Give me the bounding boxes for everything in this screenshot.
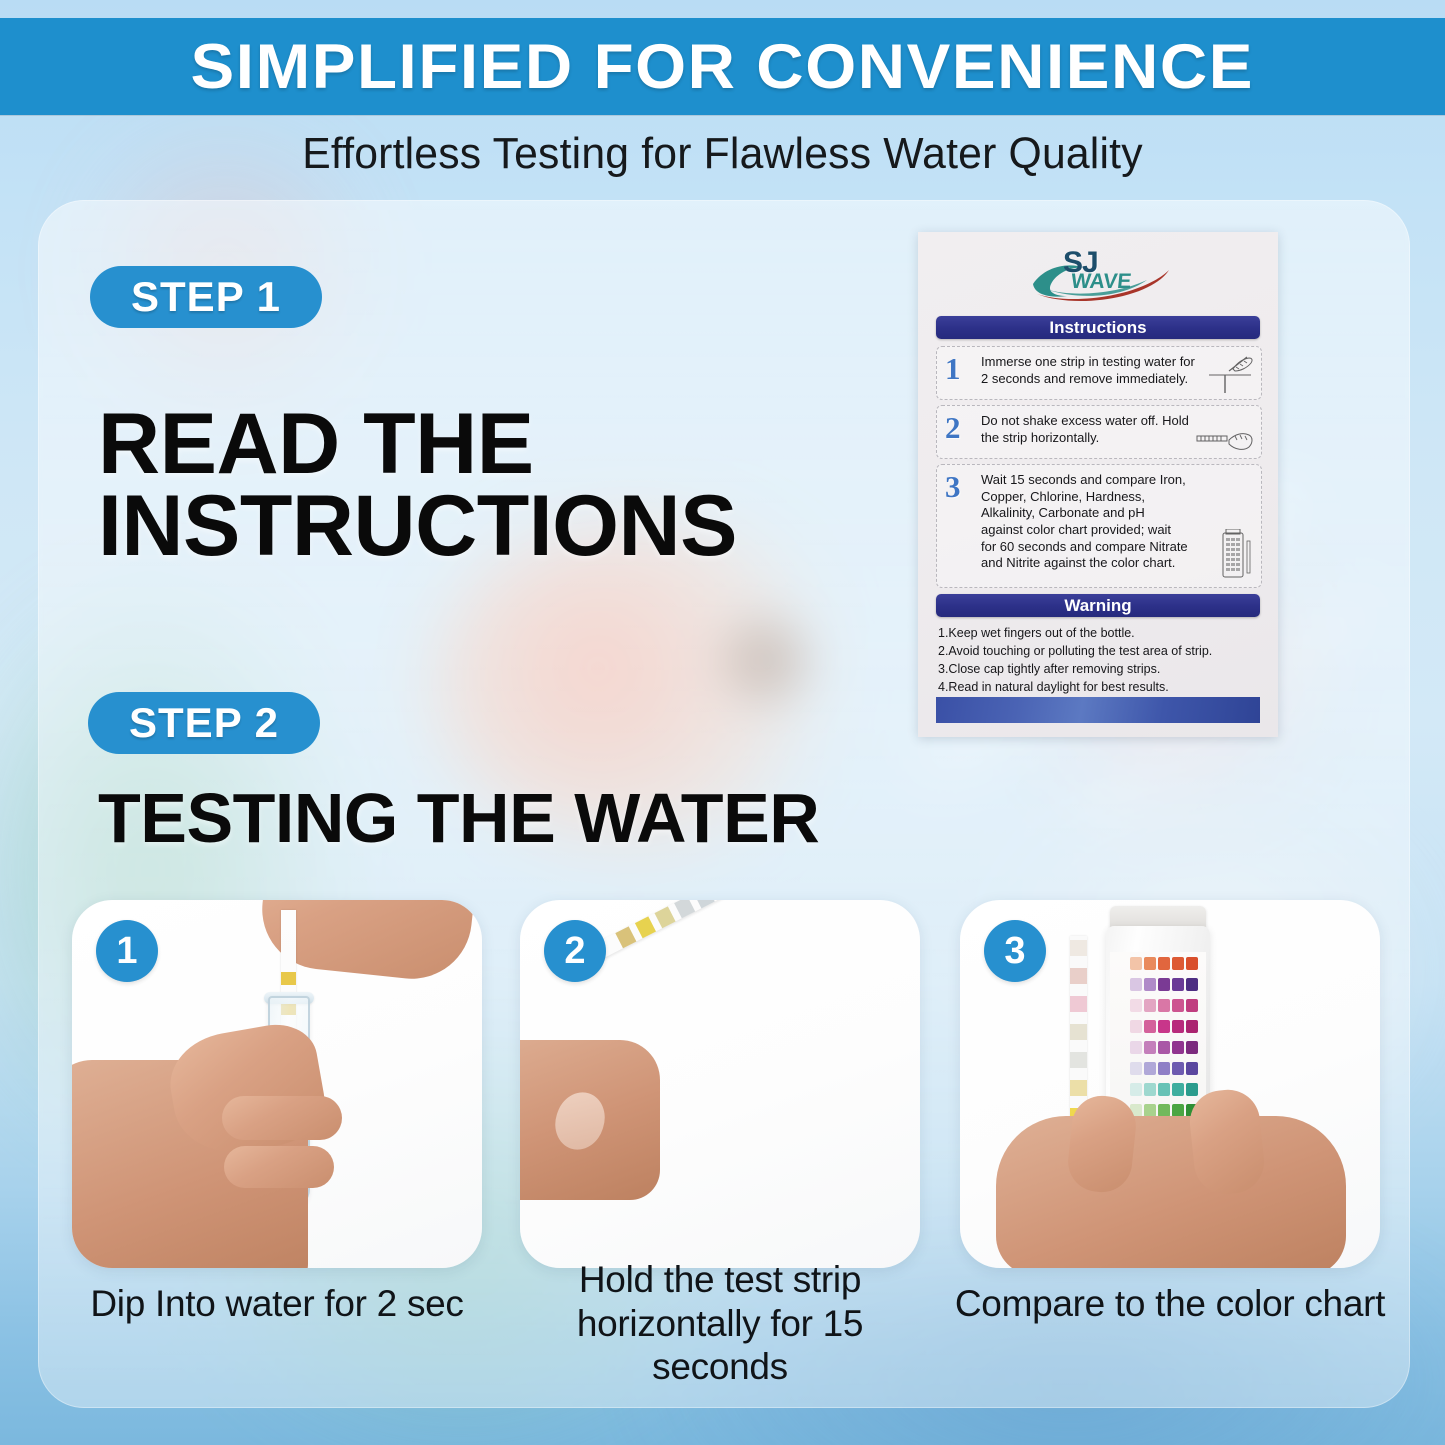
warning-item: 1.Keep wet fingers out of the bottle.: [938, 624, 1268, 642]
index-finger: [222, 1096, 342, 1140]
instruction-step-3-number: 3: [945, 469, 961, 505]
strip-pad-yellow-1: [281, 972, 296, 985]
palm-holding-bottle: [996, 1116, 1346, 1268]
instruction-leaflet: SJ WAVE Instructions 1 Immerse one strip…: [918, 232, 1278, 737]
instruction-step-3-text: Wait 15 seconds and compare Iron, Copper…: [981, 472, 1189, 572]
panel-1-caption: Dip Into water for 2 sec: [62, 1282, 492, 1326]
photo-panel-dip: 1: [72, 900, 482, 1268]
color-chart-bottle-icon: [1219, 529, 1253, 581]
color-chart-row: [1112, 1082, 1204, 1098]
panel-1-number-badge: 1: [96, 920, 158, 982]
test-strip-diagonal: [592, 900, 858, 960]
instruction-step-1: 1 Immerse one strip in testing water for…: [936, 346, 1262, 400]
panel-2-number-badge: 2: [544, 920, 606, 982]
ref-pad-5: [1070, 1052, 1087, 1068]
instruction-step-2-number: 2: [945, 410, 961, 446]
ref-pad-4: [1070, 1024, 1087, 1040]
instruction-step-2: 2 Do not shake excess water off. Hold th…: [936, 405, 1262, 459]
strip-pad-2: [635, 916, 656, 938]
instruction-step-3: 3 Wait 15 seconds and compare Iron, Copp…: [936, 464, 1262, 588]
panel-3-number-badge: 3: [984, 920, 1046, 982]
warning-item: 3.Close cap tightly after removing strip…: [938, 660, 1268, 678]
ref-pad-1: [1070, 940, 1087, 956]
instructions-header-bar: Instructions: [936, 316, 1260, 339]
step-1-title-line2: INSTRUCTIONS: [98, 486, 737, 568]
step-1-title: READ THE INSTRUCTIONS: [98, 404, 737, 567]
sj-wave-logo: SJ WAVE: [918, 246, 1278, 308]
color-chart-row: [1112, 1039, 1204, 1055]
middle-finger: [224, 1146, 334, 1188]
hold-strip-horizontal-icon: [1195, 428, 1255, 456]
strip-pad-1: [615, 926, 636, 948]
ref-pad-2: [1070, 968, 1087, 984]
page-subtitle: Effortless Testing for Flawless Water Qu…: [22, 118, 1424, 190]
step-1-badge: STEP 1: [90, 266, 322, 328]
warning-header-bar: Warning: [936, 594, 1260, 617]
color-chart-row: [1112, 976, 1204, 992]
panel-3-caption: Compare to the color chart: [945, 1282, 1395, 1326]
header-band: SIMPLIFIED FOR CONVENIENCE: [0, 18, 1445, 115]
strip-pad-5: [694, 900, 715, 908]
warning-item: 4.Read in natural daylight for best resu…: [938, 678, 1268, 696]
instruction-step-2-text: Do not shake excess water off. Hold the …: [981, 413, 1199, 446]
warning-item: 2.Avoid touching or polluting the test a…: [938, 642, 1268, 660]
color-chart-row: [1112, 955, 1204, 971]
strip-pad-3: [655, 906, 676, 928]
leaflet-footer-band: [936, 697, 1260, 723]
photo-panel-compare: 3: [960, 900, 1380, 1268]
step-2-badge: STEP 2: [88, 692, 320, 754]
strip-pad-4: [674, 900, 695, 918]
color-chart-row: [1112, 997, 1204, 1013]
ref-pad-3: [1070, 996, 1087, 1012]
color-chart-row: [1112, 1018, 1204, 1034]
step-2-title: TESTING THE WATER: [98, 785, 819, 852]
page-title: SIMPLIFIED FOR CONVENIENCE: [191, 31, 1254, 103]
photo-panel-hold: 2: [520, 900, 920, 1268]
panel-2-caption: Hold the test strip horizontally for 15 …: [505, 1258, 935, 1389]
color-chart-row: [1112, 1061, 1204, 1077]
instruction-step-1-number: 1: [945, 351, 961, 387]
logo-text-wave: WAVE: [1070, 270, 1133, 294]
instruction-step-1-text: Immerse one strip in testing water for 2…: [981, 354, 1199, 387]
ref-pad-6: [1070, 1080, 1087, 1096]
dip-strip-icon: [1203, 353, 1255, 395]
